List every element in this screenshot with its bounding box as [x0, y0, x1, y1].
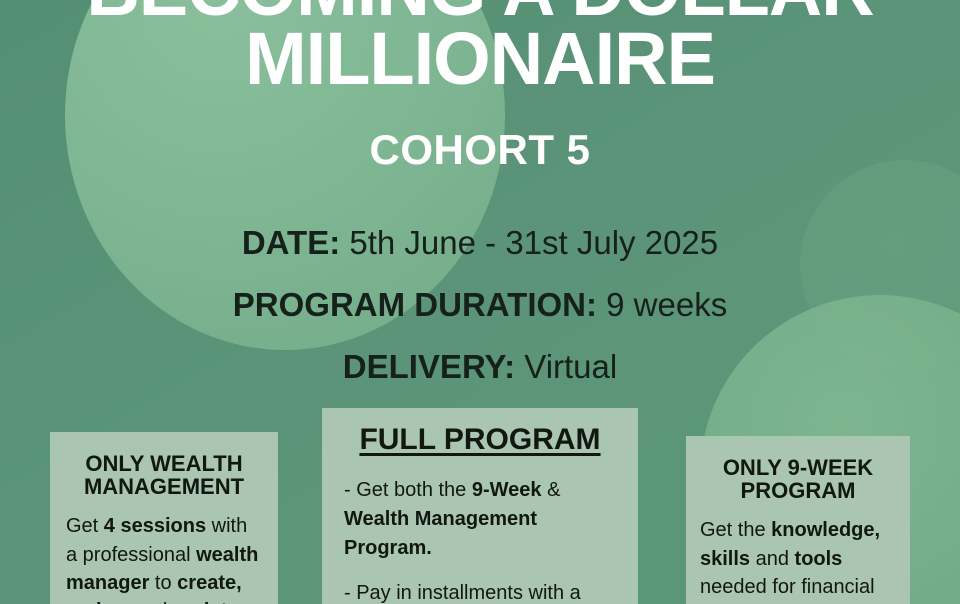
poster-headline: BECOMING A DOLLAR MILLIONAIRE: [0, 0, 960, 94]
card-center-title: FULL PROGRAM: [344, 424, 616, 456]
card-only-wealth-management: ONLY WEALTH MANAGEMENT Get 4 sessions wi…: [50, 432, 278, 604]
card-right-body: Get the knowledge, skills and tools need…: [700, 516, 896, 604]
detail-row-duration: PROGRAM DURATION: 9 weeks: [0, 274, 960, 336]
poster-canvas: BECOMING A DOLLAR MILLIONAIRE COHORT 5 D…: [0, 0, 960, 604]
detail-value-delivery: Virtual: [524, 348, 617, 385]
card-left-paragraph: Get 4 sessions with a professional wealt…: [66, 512, 262, 604]
card-left-title: ONLY WEALTH MANAGEMENT: [66, 452, 262, 498]
card-center-body: - Get both the 9-Week & Wealth Managemen…: [344, 476, 616, 604]
detail-key-delivery: DELIVERY:: [343, 348, 515, 385]
card-right-title: ONLY 9-WEEK PROGRAM: [700, 456, 896, 502]
detail-value-duration: 9 weeks: [606, 286, 727, 323]
card-only-9-week-program: ONLY 9-WEEK PROGRAM Get the knowledge, s…: [686, 436, 910, 604]
detail-row-date: DATE: 5th June - 31st July 2025: [0, 212, 960, 274]
detail-key-duration: PROGRAM DURATION:: [233, 286, 597, 323]
detail-value-date: 5th June - 31st July 2025: [349, 224, 718, 261]
detail-key-date: DATE:: [242, 224, 340, 261]
card-center-paragraph-1: - Get both the 9-Week & Wealth Managemen…: [344, 476, 616, 563]
card-center-paragraph-2: - Pay in installments with a: [344, 579, 616, 604]
detail-row-delivery: DELIVERY: Virtual: [0, 336, 960, 398]
card-right-paragraph: Get the knowledge, skills and tools need…: [700, 516, 896, 604]
cohort-label: COHORT 5: [0, 126, 960, 174]
headline-line-2: MILLIONAIRE: [0, 25, 960, 94]
card-left-body: Get 4 sessions with a professional wealt…: [66, 512, 262, 604]
card-full-program: FULL PROGRAM - Get both the 9-Week & Wea…: [322, 408, 638, 604]
program-details: DATE: 5th June - 31st July 2025 PROGRAM …: [0, 212, 960, 398]
